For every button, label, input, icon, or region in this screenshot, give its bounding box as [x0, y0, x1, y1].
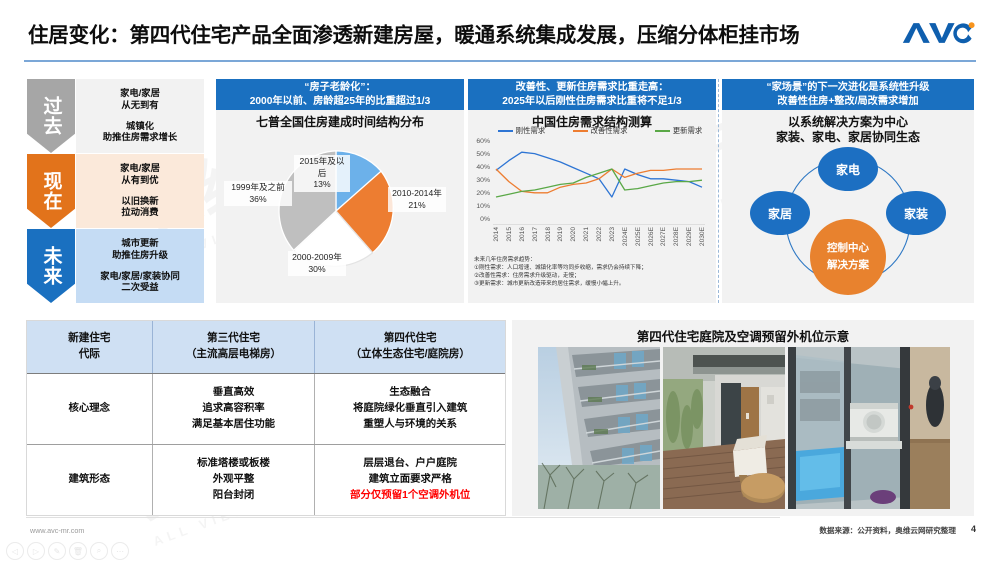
x-tick: 2028E [673, 227, 680, 246]
y-tick: 50% [468, 151, 490, 158]
panel2-footnote: 未来几年住房需求趋势： ①刚性需求：人口增速、城镇化率等均同步收缩，需求仍会持续… [474, 257, 714, 289]
timeline-text: 城镇化 [80, 121, 200, 133]
avc-logo-icon [900, 18, 978, 48]
photo-panel: 第四代住宅庭院及空调预留外机位示意 [512, 320, 974, 516]
cell-gen3-core-concept: 垂直高效 追求高容积率 满足基本居住功能 [152, 374, 315, 445]
table-header-gen3: 第三代住宅 （主流高层电梯房） [152, 321, 315, 374]
x-tick: 2017 [532, 227, 539, 242]
line-series-2 [496, 169, 702, 197]
x-tick: 2023 [609, 227, 616, 242]
legend-item-renew: 更新需求 [655, 125, 703, 136]
y-tick: 20% [468, 190, 490, 197]
header-divider [24, 60, 976, 62]
panel1-banner-line1: “房子老龄化”： [304, 81, 375, 95]
footer-divider [26, 517, 780, 518]
play-icon[interactable]: ▷ [27, 542, 45, 560]
ecosystem-diagram: 家电 家居 家装 控制中心 解决方案 [722, 141, 974, 303]
footnote-line: ②改善性需求：住房需求升级驱动，走慢； [474, 273, 714, 281]
line-chart-plot [493, 141, 705, 225]
photo-row [538, 347, 950, 509]
timeline-stage-future: 未来 [27, 229, 75, 303]
cell-gen4-building-form: 层层退台、户户庭院 建筑立面要求严格 部分仅预留1个空调外机位 [315, 445, 505, 515]
x-tick: 2018 [545, 227, 552, 242]
timeline-text: 二次受益 [80, 282, 200, 294]
panel-housing-age: “房子老龄化”： 2000年以前、房龄超25年的比重超过1/3 七普全国住房建成… [216, 79, 464, 303]
pie-label-2015: 2015年及以后13% [294, 155, 350, 192]
y-tick: 60% [468, 138, 490, 145]
timeline-text-present: 家电/家居 从有到优 以旧换新 拉动消费 [76, 154, 204, 228]
timeline-arrows: 过去 现在 未来 [27, 79, 75, 303]
highlight-text: 部分仅预留1个空调外机位 [318, 488, 502, 504]
x-tick: 2024E [622, 227, 629, 246]
legend-item-improve: 改善性需求 [573, 125, 628, 136]
line-chart: 刚性需求 改善性需求 更新需求 60% 50% 40% 30% 20% 10% … [468, 125, 716, 255]
panel1-banner-line2: 2000年以前、房龄超25年的比重超过1/3 [250, 95, 431, 109]
table-row: 建筑形态 标准塔楼或板楼 外观平整 阳台封闭 层层退台、户户庭院 建筑立面要求严… [27, 445, 505, 515]
trash-icon[interactable]: 🗑 [69, 542, 87, 560]
timeline-text: 从有到优 [80, 175, 200, 187]
comparison-table: 新建住宅 代际 第三代住宅 （主流高层电梯房） 第四代住宅 （立体生态住宅/庭院… [26, 320, 506, 516]
x-tick: 2021 [583, 227, 590, 242]
slide: 奥维云网 ALL VIEW CLOUD 奥维云网 ALL VIEW CLOUD … [0, 0, 1000, 562]
timeline-label-past: 过去 [42, 96, 61, 136]
photo-panel-title: 第四代住宅庭院及空调预留外机位示意 [512, 326, 974, 345]
footnote-line: ③更新需求：城市更新改造带来的居住需求，缓慢小幅上升。 [474, 281, 714, 289]
pen-icon[interactable]: ✎ [48, 542, 66, 560]
slide-header: 住居变化：第四代住宅产品全面渗透新建房屋，暖通系统集成发展，压缩分体柜挂市场 [0, 0, 1000, 62]
cell-gen4-core-concept: 生态融合 将庭院绿化垂直引入建筑 重塑人与环境的关系 [315, 374, 505, 445]
x-tick: 2030E [699, 227, 706, 246]
x-tick: 2019 [557, 227, 564, 242]
row-label-core-concept: 核心理念 [27, 374, 152, 445]
cell-gen3-building-form: 标准塔楼或板楼 外观平整 阳台封闭 [152, 445, 315, 515]
pie-chart: 1999年及之前36% 2015年及以后13% 2010-2014年21% 20… [216, 125, 464, 303]
pie-label-1999: 1999年及之前36% [224, 181, 292, 206]
timeline-text-blocks: 家电/家居 从无到有 城镇化 助推住房需求增长 家电/家居 从有到优 以旧换新 … [76, 79, 204, 303]
footnote-line: 未来几年住房需求趋势： [474, 257, 714, 265]
x-tick: 2025E [635, 227, 642, 246]
timeline-label-future: 未来 [42, 246, 61, 286]
x-tick: 2016 [519, 227, 526, 242]
x-tick: 2015 [506, 227, 513, 242]
control-center-line2: 解决方案 [827, 257, 869, 274]
x-tick: 2026E [648, 227, 655, 246]
y-tick: 40% [468, 164, 490, 171]
row-label-building-form: 建筑形态 [27, 445, 152, 515]
footer-toolbar[interactable]: ◁ ▷ ✎ 🗑 ⌕ ⋯ [6, 542, 129, 560]
timeline-text: 助推住房需求增长 [80, 132, 200, 144]
timeline-text: 城市更新 [80, 238, 200, 250]
ac-unit [850, 403, 898, 442]
timeline-text: 家电/家居 [80, 163, 200, 175]
panel2-banner-line2: 2025年以后刚性住房需求比重将不足1/3 [502, 95, 681, 109]
page-title: 住居变化：第四代住宅产品全面渗透新建房屋，暖通系统集成发展，压缩分体柜挂市场 [28, 18, 799, 48]
panel2-banner: 改善性、更新住房需求比重走高： 2025年以后刚性住房需求比重将不足1/3 [468, 79, 716, 110]
x-tick: 2020 [570, 227, 577, 242]
bubble-home-appliance[interactable]: 家电 [818, 147, 878, 191]
y-tick: 30% [468, 177, 490, 184]
x-tick: 2029E [686, 227, 693, 246]
bubble-home-furnishing[interactable]: 家居 [750, 191, 810, 235]
bubble-control-center[interactable]: 控制中心 解决方案 [810, 219, 886, 295]
table-header-generation: 新建住宅 代际 [27, 321, 152, 374]
table-row: 核心理念 垂直高效 追求高容积率 满足基本居住功能 生态融合 将庭院绿化垂直引入… [27, 374, 505, 445]
legend-item-rigid: 刚性需求 [498, 125, 546, 136]
pie-label-2000-2009: 2000-2009年30% [288, 251, 346, 276]
prev-icon[interactable]: ◁ [6, 542, 24, 560]
timeline-label-present: 现在 [42, 171, 61, 211]
panel3-banner-line2: 改善性住房+整改/局改需求增加 [777, 95, 918, 109]
page-number: 4 [971, 524, 976, 534]
footer-url[interactable]: www.avc-mr.com [30, 526, 84, 535]
photo-courtyard-terrace [663, 347, 785, 509]
line-chart-legend: 刚性需求 改善性需求 更新需求 [484, 125, 716, 136]
timeline-text: 拉动消费 [80, 207, 200, 219]
photo-building-facade [538, 347, 660, 509]
photo-ac-outdoor-unit [788, 347, 950, 509]
timeline-stage-past: 过去 [27, 79, 75, 153]
x-tick: 2027E [660, 227, 667, 246]
pie-label-2010-2014: 2010-2014年21% [388, 187, 446, 212]
timeline-text: 家电/家居/家装协同 [80, 271, 200, 283]
panel1-banner: “房子老龄化”： 2000年以前、房龄超25年的比重超过1/3 [216, 79, 464, 110]
bubble-home-decoration[interactable]: 家装 [886, 191, 946, 235]
table-header-gen4: 第四代住宅 （立体生态住宅/庭院房） [315, 321, 505, 374]
panel2-banner-line1: 改善性、更新住房需求比重走高： [516, 81, 669, 95]
y-tick: 0% [468, 216, 490, 223]
timeline-stage-present: 现在 [27, 154, 75, 228]
footer-source: 数据来源：公开资料，奥维云网研究整理 [819, 525, 956, 536]
more-icon[interactable]: ⋯ [111, 542, 129, 560]
timeline-text: 以旧换新 [80, 196, 200, 208]
panel-divider [718, 79, 719, 303]
timeline-text: 家电/家居 [80, 88, 200, 100]
zoom-icon[interactable]: ⌕ [90, 542, 108, 560]
panel3-banner-line1: “家场景”的下一次进化是系统性升级 [767, 81, 930, 95]
table-header-row: 新建住宅 代际 第三代住宅 （主流高层电梯房） 第四代住宅 （立体生态住宅/庭院… [27, 321, 505, 374]
panel-home-scenario: “家场景”的下一次进化是系统性升级 改善性住房+整改/局改需求增加 以系统解决方… [722, 79, 974, 303]
x-tick: 2022 [596, 227, 603, 242]
panel-demand-structure: 改善性、更新住房需求比重走高： 2025年以后刚性住房需求比重将不足1/3 中国… [468, 79, 716, 303]
y-tick: 10% [468, 203, 490, 210]
x-tick: 2014 [493, 227, 500, 242]
footnote-line: ①刚性需求：人口增速、城镇化率等均同步收缩，需求仍会持续下降； [474, 265, 714, 273]
panel3-banner: “家场景”的下一次进化是系统性升级 改善性住房+整改/局改需求增加 [722, 79, 974, 110]
timeline-text: 从无到有 [80, 100, 200, 112]
timeline-text-past: 家电/家居 从无到有 城镇化 助推住房需求增长 [76, 79, 204, 153]
timeline-text-future: 城市更新 助推住房升级 家电/家居/家装协同 二次受益 [76, 229, 204, 303]
control-center-line1: 控制中心 [827, 240, 869, 257]
timeline-text: 助推住房升级 [80, 250, 200, 262]
